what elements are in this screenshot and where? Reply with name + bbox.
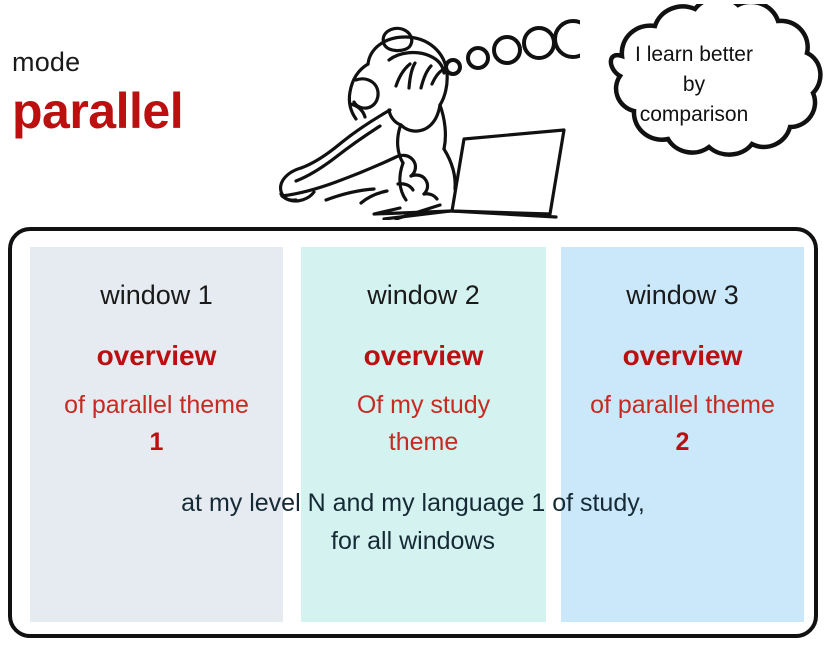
windows-container: window 1 overview of parallel theme 1 wi… [8, 227, 818, 638]
window-2-subtitle-text: Of my study [357, 391, 490, 419]
thought-bubble-text: I learn better by comparison [596, 40, 792, 130]
window-panel-2[interactable]: window 2 overview Of my study theme [301, 247, 546, 622]
window-3-subtitle-text: of parallel theme [590, 391, 775, 419]
window-3-subtitle-emphasis: 2 [676, 428, 690, 456]
window-3-overview-heading: overview [561, 339, 804, 373]
thought-bubble-line-3: comparison [596, 100, 792, 130]
window-2-title: window 2 [301, 279, 546, 311]
window-2-overview-heading: overview [301, 339, 546, 373]
window-panel-1[interactable]: window 1 overview of parallel theme 1 [30, 247, 283, 622]
mode-label: mode [12, 46, 80, 78]
thought-bubble-line-2: by [596, 70, 792, 100]
window-1-subtitle: of parallel theme 1 [30, 387, 283, 461]
window-3-subtitle: of parallel theme 2 [561, 387, 804, 461]
window-2-subtitle-emphasis: theme [389, 428, 458, 456]
window-1-subtitle-text: of parallel theme [64, 391, 249, 419]
thought-bubble-dots-icon [440, 12, 580, 92]
window-3-title: window 3 [561, 279, 804, 311]
mode-value: parallel [12, 82, 183, 140]
window-1-subtitle-emphasis: 1 [150, 428, 164, 456]
thought-bubble-line-1: I learn better [596, 40, 792, 70]
window-2-subtitle: Of my study theme [301, 387, 546, 461]
window-panel-3[interactable]: window 3 overview of parallel theme 2 [561, 247, 804, 622]
window-1-title: window 1 [30, 279, 283, 311]
window-1-overview-heading: overview [30, 339, 283, 373]
